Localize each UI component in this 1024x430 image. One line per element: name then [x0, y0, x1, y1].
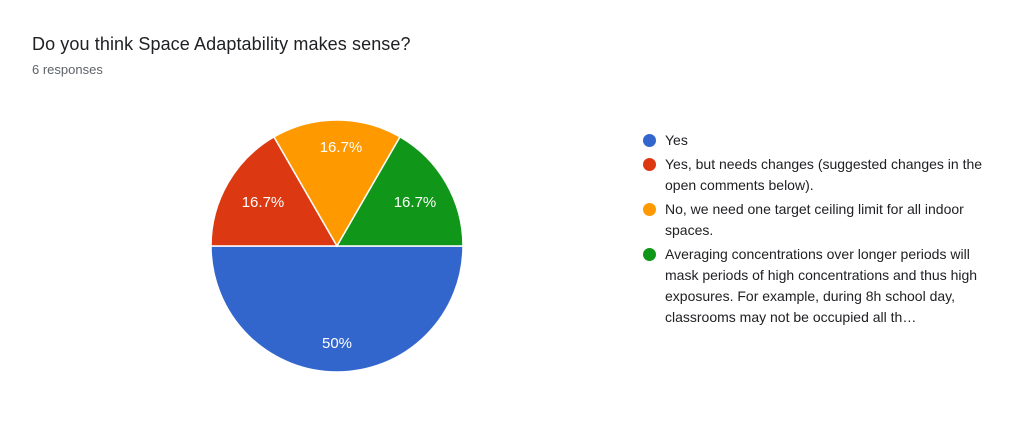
legend-item-label: Yes, but needs changes (suggested change… [665, 154, 991, 196]
legend-item[interactable]: No, we need one target ceiling limit for… [643, 199, 991, 241]
pie-slice-label: 50% [322, 335, 352, 352]
pie-slice-label: 16.7% [394, 194, 437, 211]
pie-slice-label: 16.7% [320, 139, 363, 156]
pie-chart: 50%16.7%16.7%16.7% [190, 120, 490, 410]
chart-header: Do you think Space Adaptability makes se… [32, 32, 652, 79]
legend-item[interactable]: Yes, but needs changes (suggested change… [643, 154, 991, 196]
legend-item[interactable]: Averaging concentrations over longer per… [643, 244, 991, 328]
legend-item-label: Yes [665, 130, 688, 151]
legend-item-label: Averaging concentrations over longer per… [665, 244, 991, 328]
response-count-label: 6 responses [32, 61, 652, 79]
legend-color-dot-icon [643, 134, 656, 147]
pie-slice-label: 16.7% [242, 194, 285, 211]
chart-legend: YesYes, but needs changes (suggested cha… [643, 130, 991, 331]
legend-color-dot-icon [643, 248, 656, 261]
legend-item-label: No, we need one target ceiling limit for… [665, 199, 991, 241]
legend-color-dot-icon [643, 203, 656, 216]
legend-item[interactable]: Yes [643, 130, 991, 151]
legend-color-dot-icon [643, 158, 656, 171]
pie-slice[interactable] [211, 246, 463, 372]
chart-area: 50%16.7%16.7%16.7% [0, 100, 620, 420]
page-title: Do you think Space Adaptability makes se… [32, 32, 652, 56]
pie-chart-card: Do you think Space Adaptability makes se… [0, 0, 1024, 430]
